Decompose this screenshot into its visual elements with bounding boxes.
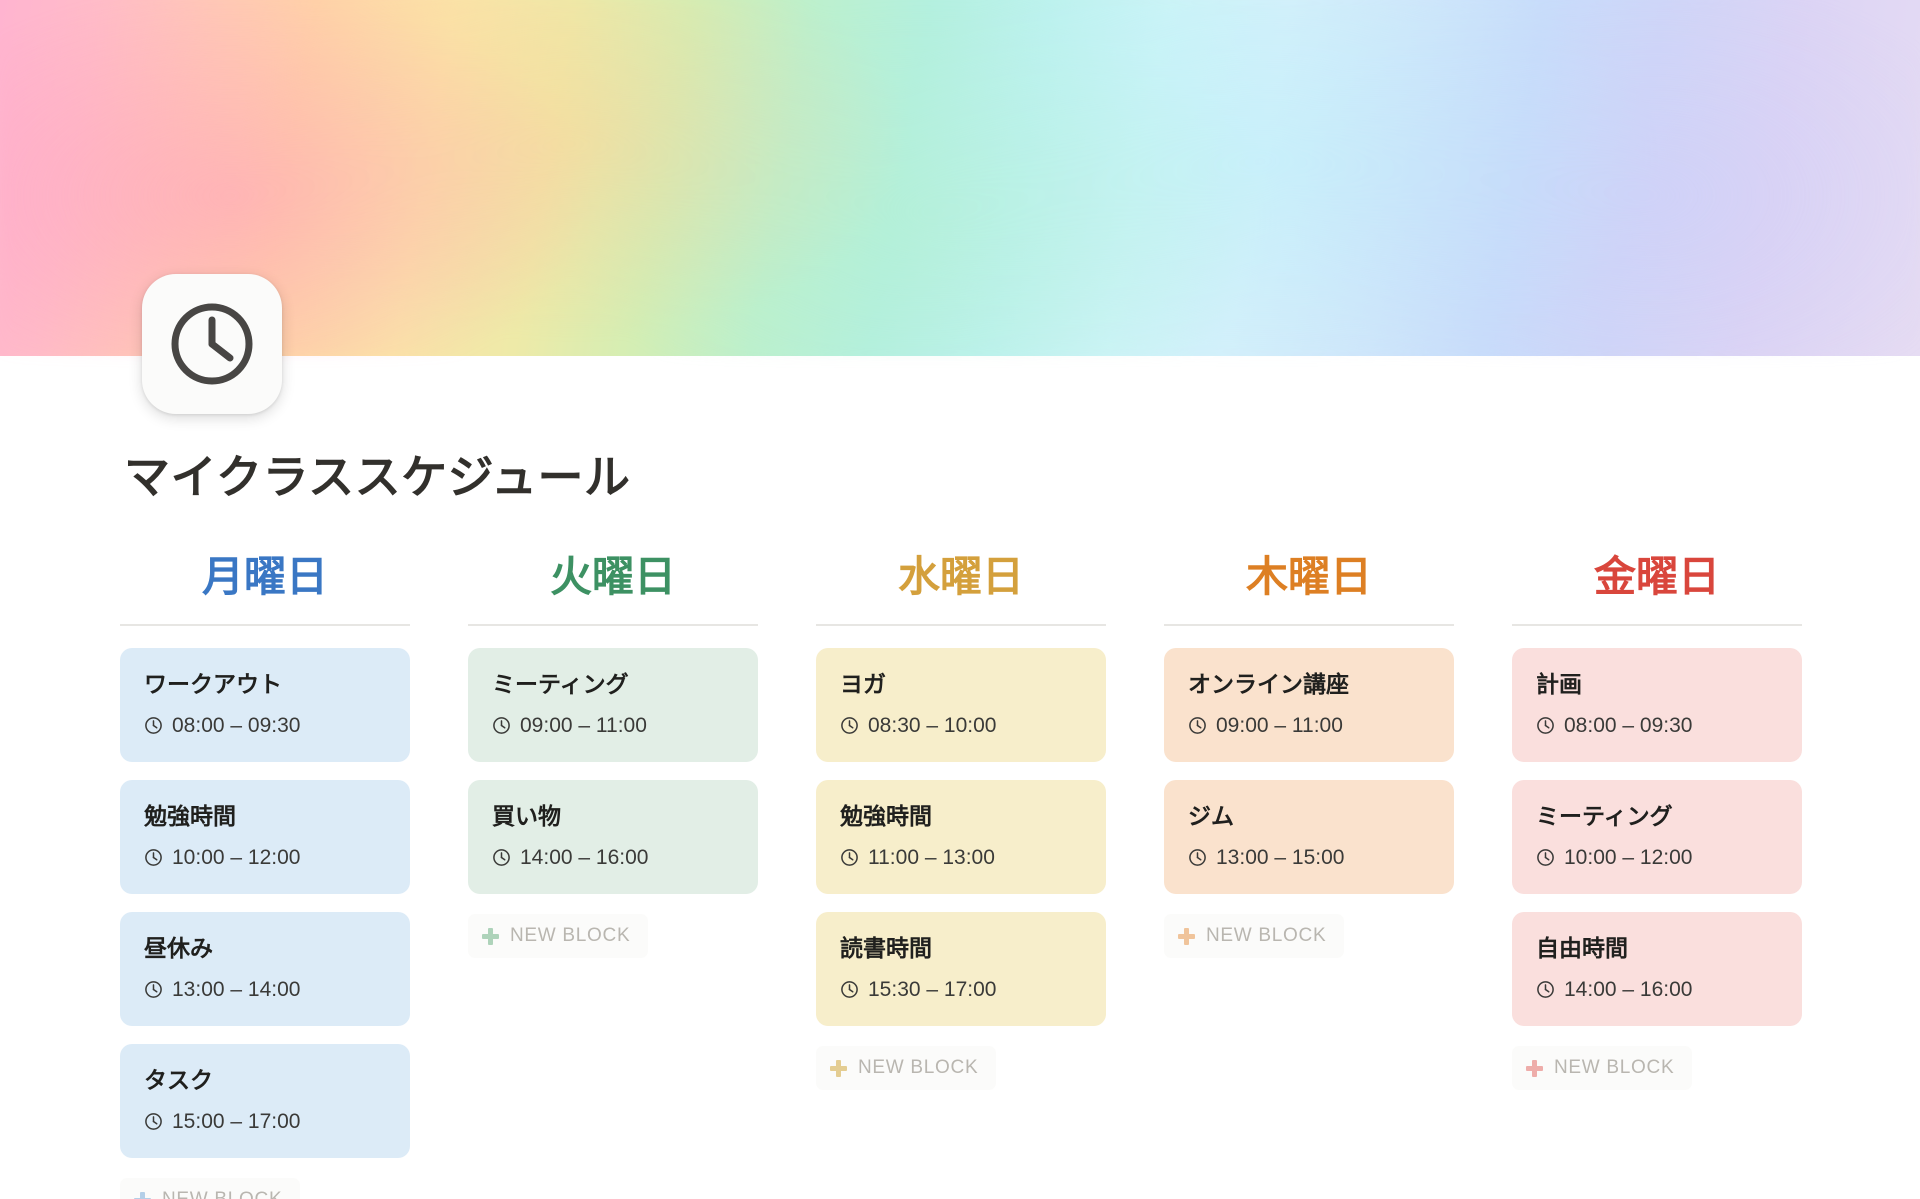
schedule-block-card[interactable]: タスク15:00 – 17:00	[120, 1044, 410, 1158]
block-time: 13:00 – 14:00	[144, 977, 386, 1002]
block-time-label: 09:00 – 11:00	[520, 713, 647, 738]
block-title: ミーティング	[1536, 802, 1778, 831]
schedule-block-card[interactable]: 昼休み13:00 – 14:00	[120, 912, 410, 1026]
schedule-block-card[interactable]: 読書時間15:30 – 17:00	[816, 912, 1106, 1026]
plus-icon	[1178, 928, 1195, 945]
block-time-label: 08:30 – 10:00	[868, 713, 996, 738]
block-time-label: 11:00 – 13:00	[868, 845, 995, 870]
block-time: 13:00 – 15:00	[1188, 845, 1430, 870]
block-time: 15:30 – 17:00	[840, 977, 1082, 1002]
block-time: 14:00 – 16:00	[1536, 977, 1778, 1002]
day-column: 木曜日オンライン講座09:00 – 11:00ジム13:00 – 15:00NE…	[1164, 552, 1512, 1199]
card-list: ミーティング09:00 – 11:00買い物14:00 – 16:00NEW B…	[468, 648, 758, 958]
block-time: 14:00 – 16:00	[492, 845, 734, 870]
plus-icon	[830, 1060, 847, 1077]
block-title: オンライン講座	[1188, 670, 1430, 699]
schedule-block-card[interactable]: ジム13:00 – 15:00	[1164, 780, 1454, 894]
plus-icon	[482, 928, 499, 945]
day-header: 月曜日	[120, 552, 410, 624]
block-title: タスク	[144, 1066, 386, 1095]
day-header: 水曜日	[816, 552, 1106, 624]
clock-icon	[840, 716, 859, 735]
block-time: 15:00 – 17:00	[144, 1109, 386, 1134]
clock-icon	[1536, 980, 1555, 999]
schedule-page: マイクラススケジュール 月曜日ワークアウト08:00 – 09:30勉強時間10…	[0, 0, 1920, 1199]
day-column: 水曜日ヨガ08:30 – 10:00勉強時間11:00 – 13:00読書時間1…	[816, 552, 1164, 1199]
block-title: 計画	[1536, 670, 1778, 699]
plus-icon	[134, 1192, 151, 1199]
new-block-label: NEW BLOCK	[858, 1057, 978, 1079]
schedule-block-card[interactable]: ワークアウト08:00 – 09:30	[120, 648, 410, 762]
block-time-label: 15:00 – 17:00	[172, 1109, 300, 1134]
schedule-block-card[interactable]: 計画08:00 – 09:30	[1512, 648, 1802, 762]
block-title: 読書時間	[840, 934, 1082, 963]
day-header: 火曜日	[468, 552, 758, 624]
schedule-block-card[interactable]: 買い物14:00 – 16:00	[468, 780, 758, 894]
block-title: 勉強時間	[144, 802, 386, 831]
new-block-label: NEW BLOCK	[510, 925, 630, 947]
block-title: 勉強時間	[840, 802, 1082, 831]
schedule-board: 月曜日ワークアウト08:00 – 09:30勉強時間10:00 – 12:00昼…	[120, 552, 1860, 1199]
card-list: オンライン講座09:00 – 11:00ジム13:00 – 15:00NEW B…	[1164, 648, 1454, 958]
block-time-label: 14:00 – 16:00	[1564, 977, 1692, 1002]
schedule-block-card[interactable]: オンライン講座09:00 – 11:00	[1164, 648, 1454, 762]
new-block-button[interactable]: NEW BLOCK	[816, 1046, 996, 1090]
card-list: 計画08:00 – 09:30ミーティング10:00 – 12:00自由時間14…	[1512, 648, 1802, 1090]
block-time: 08:00 – 09:30	[1536, 713, 1778, 738]
page-title: マイクラススケジュール	[124, 449, 630, 507]
column-divider	[1512, 624, 1802, 626]
block-time: 11:00 – 13:00	[840, 845, 1082, 870]
schedule-block-card[interactable]: 勉強時間10:00 – 12:00	[120, 780, 410, 894]
schedule-block-card[interactable]: ミーティング10:00 – 12:00	[1512, 780, 1802, 894]
block-time: 08:00 – 09:30	[144, 713, 386, 738]
block-time: 10:00 – 12:00	[1536, 845, 1778, 870]
column-divider	[1164, 624, 1454, 626]
schedule-block-card[interactable]: 自由時間14:00 – 16:00	[1512, 912, 1802, 1026]
clock-icon	[144, 848, 163, 867]
day-column: 月曜日ワークアウト08:00 – 09:30勉強時間10:00 – 12:00昼…	[120, 552, 468, 1199]
clock-icon	[144, 716, 163, 735]
clock-icon	[840, 980, 859, 999]
clock-icon	[492, 716, 511, 735]
block-title: ヨガ	[840, 670, 1082, 699]
column-divider	[816, 624, 1106, 626]
schedule-block-card[interactable]: ヨガ08:30 – 10:00	[816, 648, 1106, 762]
block-title: 買い物	[492, 802, 734, 831]
block-time-label: 13:00 – 15:00	[1216, 845, 1344, 870]
new-block-button[interactable]: NEW BLOCK	[120, 1178, 300, 1199]
banner-gradient-overlay	[0, 0, 1920, 356]
block-time-label: 10:00 – 12:00	[172, 845, 300, 870]
clock-icon	[1536, 716, 1555, 735]
block-time-label: 08:00 – 09:30	[172, 713, 300, 738]
schedule-block-card[interactable]: 勉強時間11:00 – 13:00	[816, 780, 1106, 894]
clock-icon	[492, 848, 511, 867]
block-time: 09:00 – 11:00	[1188, 713, 1430, 738]
new-block-button[interactable]: NEW BLOCK	[1512, 1046, 1692, 1090]
day-column: 金曜日計画08:00 – 09:30ミーティング10:00 – 12:00自由時…	[1512, 552, 1860, 1199]
new-block-label: NEW BLOCK	[162, 1189, 282, 1199]
clock-icon	[1536, 848, 1555, 867]
block-time-label: 13:00 – 14:00	[172, 977, 300, 1002]
plus-icon	[1526, 1060, 1543, 1077]
block-time-label: 15:30 – 17:00	[868, 977, 996, 1002]
clock-icon	[144, 980, 163, 999]
card-list: ワークアウト08:00 – 09:30勉強時間10:00 – 12:00昼休み1…	[120, 648, 410, 1199]
clock-icon	[840, 848, 859, 867]
block-title: ジム	[1188, 802, 1430, 831]
clock-icon	[142, 274, 282, 414]
block-title: ワークアウト	[144, 670, 386, 699]
block-time: 08:30 – 10:00	[840, 713, 1082, 738]
new-block-button[interactable]: NEW BLOCK	[468, 914, 648, 958]
new-block-label: NEW BLOCK	[1554, 1057, 1674, 1079]
block-time-label: 10:00 – 12:00	[1564, 845, 1692, 870]
new-block-label: NEW BLOCK	[1206, 925, 1326, 947]
day-header: 金曜日	[1512, 552, 1802, 624]
clock-icon	[1188, 716, 1207, 735]
column-divider	[120, 624, 410, 626]
schedule-block-card[interactable]: ミーティング09:00 – 11:00	[468, 648, 758, 762]
new-block-button[interactable]: NEW BLOCK	[1164, 914, 1344, 958]
block-time: 10:00 – 12:00	[144, 845, 386, 870]
day-column: 火曜日ミーティング09:00 – 11:00買い物14:00 – 16:00NE…	[468, 552, 816, 1199]
block-title: 自由時間	[1536, 934, 1778, 963]
clock-icon	[144, 1112, 163, 1131]
block-title: ミーティング	[492, 670, 734, 699]
header-gradient-banner	[0, 0, 1920, 356]
block-time-label: 14:00 – 16:00	[520, 845, 648, 870]
block-title: 昼休み	[144, 934, 386, 963]
day-header: 木曜日	[1164, 552, 1454, 624]
block-time-label: 09:00 – 11:00	[1216, 713, 1343, 738]
card-list: ヨガ08:30 – 10:00勉強時間11:00 – 13:00読書時間15:3…	[816, 648, 1106, 1090]
clock-icon	[1188, 848, 1207, 867]
block-time: 09:00 – 11:00	[492, 713, 734, 738]
column-divider	[468, 624, 758, 626]
block-time-label: 08:00 – 09:30	[1564, 713, 1692, 738]
